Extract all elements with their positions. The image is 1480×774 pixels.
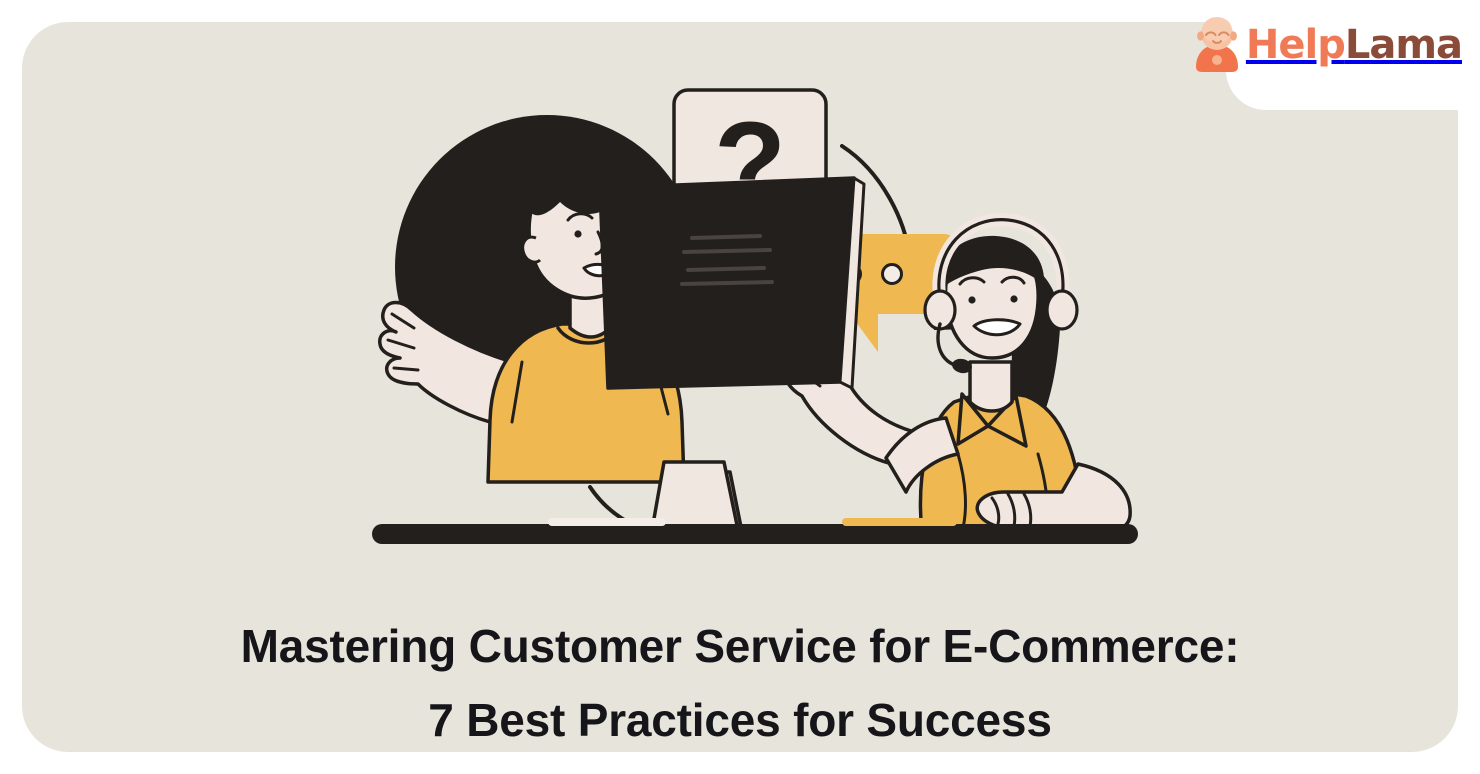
- monitor: [458, 70, 668, 80]
- banner-card: ?: [22, 22, 1458, 752]
- title-line-1: Mastering Customer Service for E-Commerc…: [22, 609, 1458, 683]
- blog-banner: ?: [0, 0, 1480, 774]
- logo-word-lama: Lama: [1345, 22, 1462, 68]
- helplama-monk-mascot-icon: [1192, 17, 1242, 73]
- logo-word-help: Help: [1246, 22, 1345, 68]
- typing-dot: [883, 265, 902, 284]
- hero-illustration: ?: [362, 62, 1162, 562]
- logo-wordmark: HelpLama: [1246, 25, 1462, 65]
- helplama-logo[interactable]: HelpLama: [1192, 14, 1462, 76]
- page-title: Mastering Customer Service for E-Commerc…: [22, 609, 1458, 752]
- title-line-2: 7 Best Practices for Success: [22, 683, 1458, 752]
